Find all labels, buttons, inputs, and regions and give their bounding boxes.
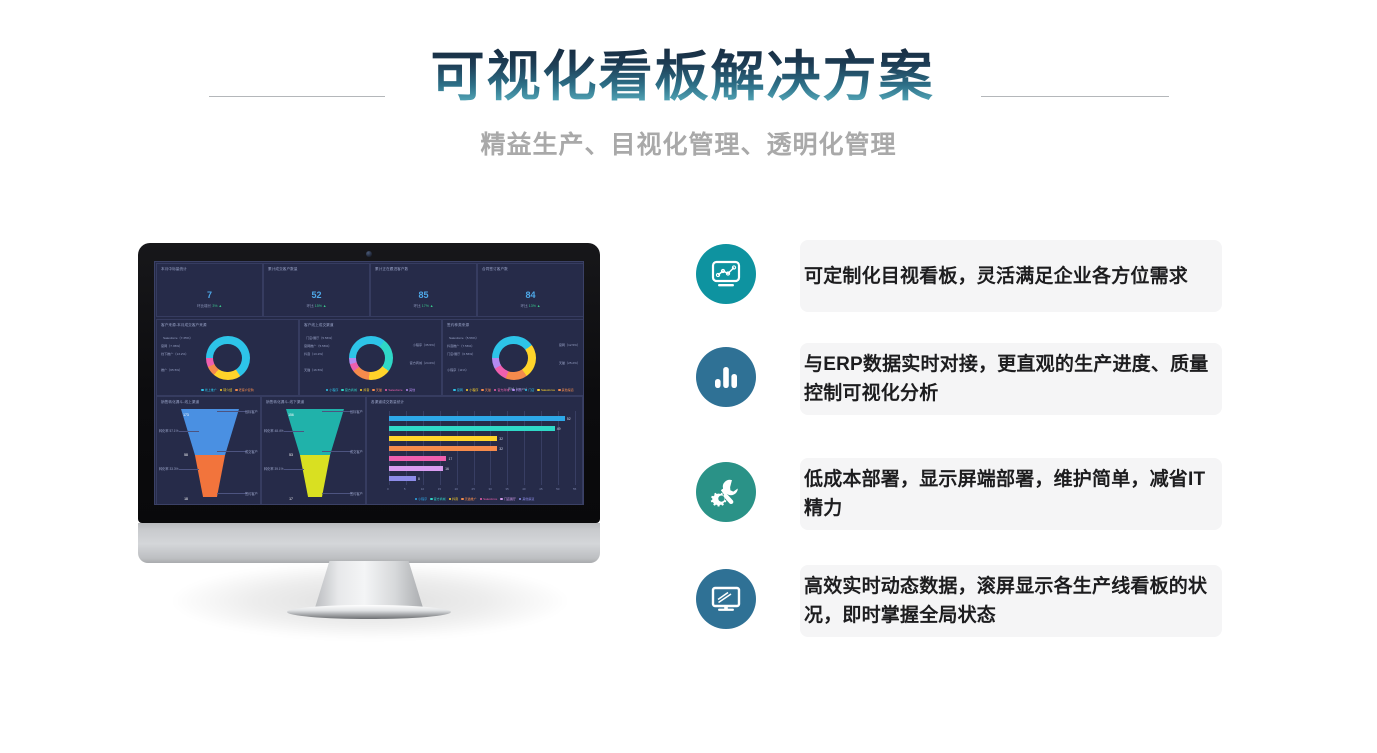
bar-chart-card[interactable]: 各渠道成交数量统计0510152025303540455055524932321… xyxy=(366,396,583,505)
kpi-card-3[interactable]: 累计正在跟进客户数85环比 17% ▲ xyxy=(370,263,477,317)
donut-title: 客户来源-本月成交客户来源 xyxy=(161,323,207,328)
page-title: 可视化看板解决方案 xyxy=(431,44,935,110)
donut-label: 抖音推广（7.56%） xyxy=(447,343,474,348)
legend-entry[interactable]: 其他 xyxy=(406,388,416,392)
legend-entry[interactable]: 小程序 xyxy=(326,388,339,392)
bar-gridline xyxy=(575,411,576,485)
bar-item xyxy=(389,456,446,461)
title-rule-right xyxy=(981,96,1169,97)
kpi-value: 7 xyxy=(157,290,262,300)
funnel-rate-label: 转化率 57.1% xyxy=(159,428,179,433)
bar-value-label: 32 xyxy=(499,437,503,441)
bar-axis-tick: 15 xyxy=(438,487,441,491)
funnel-rate-label: 转化率 39.1% xyxy=(264,466,284,471)
bar-axis-tick: 45 xyxy=(539,487,542,491)
kpi-subtext: 环比 13% ▲ xyxy=(478,304,583,309)
legend-entry[interactable]: 天猫 xyxy=(372,388,382,392)
donut-label: 官方商城（24.6%） xyxy=(410,360,437,365)
page-subtitle: 精益生产、目视化管理、透明化管理 xyxy=(0,128,1377,162)
donut-ring xyxy=(206,336,250,380)
kpi-value: 52 xyxy=(264,290,369,300)
legend-entry[interactable]: 门店展厅 xyxy=(500,497,516,501)
legend-entry[interactable]: 线上推广 xyxy=(201,388,217,392)
legend-entry[interactable]: 官方商城 xyxy=(341,388,357,392)
bar-axis-tick: 50 xyxy=(556,487,559,491)
feature-text: 与ERP数据实时对接，更直观的生产进度、质量控制可视化分析 xyxy=(800,348,1222,410)
funnel-connector xyxy=(322,451,352,452)
bar-axis-tick: 55 xyxy=(573,487,576,491)
funnel-rate-connector xyxy=(284,469,304,470)
donut-legend: 小程序官方商城抖音天猫Salesforce其他 xyxy=(300,388,441,392)
funnel-rate-label: 转化率 48.4% xyxy=(264,428,284,433)
kpi-card-4[interactable]: 合同签订客户数84环比 13% ▲ xyxy=(477,263,584,317)
kpi-subtext: 环比 15% ▲ xyxy=(264,304,369,309)
legend-entry[interactable]: 转介绍 xyxy=(220,388,233,392)
bar-item xyxy=(389,426,555,431)
kpi-card-1[interactable]: 本月中标量统计7环比增长 3% ▲ xyxy=(156,263,263,317)
donut-label: 推广（65.5%） xyxy=(161,367,182,372)
bar-axis-tick: 10 xyxy=(421,487,424,491)
funnel-connector xyxy=(322,411,352,412)
donut-label: 线下推广（13.2%） xyxy=(161,351,188,356)
page-header: 可视化看板解决方案 精益生产、目视化管理、透明化管理 xyxy=(0,0,1377,190)
bar-value-label: 52 xyxy=(567,417,571,421)
monitor-bezel: 本月中标量统计7环比增长 3% ▲累计成交客户数量52环比 15% ▲累计正在跟… xyxy=(138,243,600,523)
funnel-value: 58 xyxy=(157,453,263,457)
funnel-segment-bottom xyxy=(181,455,239,497)
feature-item-4[interactable]: 高效实时动态数据，滚屏显示各生产线看板的状况，即时掌握全局状态 xyxy=(694,565,1234,641)
monitor-line-chart-icon xyxy=(696,244,756,304)
bar-item xyxy=(389,416,565,421)
bar-axis-tick: 20 xyxy=(455,487,458,491)
funnel-stage-label: 签约客户 xyxy=(245,491,258,496)
bar-chart-legend: 小程序官方商城抖音天猫推广Salesforce门店展厅其他渠道 xyxy=(367,497,582,501)
bar-axis-tick: 30 xyxy=(488,487,491,491)
kpi-title: 累计成交客户数量 xyxy=(268,267,298,272)
funnel-connector xyxy=(217,451,247,452)
funnel-rate-connector xyxy=(284,431,304,432)
feature-item-3[interactable]: 低成本部署，显示屏端部署，维护简单，减省IT精力 xyxy=(694,458,1234,534)
wrench-gear-icon xyxy=(696,462,756,522)
bar-axis-tick: 35 xyxy=(505,487,508,491)
bar-value-label: 16 xyxy=(445,467,449,471)
donut-label: 门店/展厅（6.56%） xyxy=(447,351,475,356)
donut-label: 小程序（35.5%） xyxy=(413,342,437,347)
bar-chart-icon xyxy=(696,347,756,407)
legend-entry[interactable]: 抖音 xyxy=(449,497,459,501)
bar-item xyxy=(389,466,443,471)
donut-label: 小程序（11%） xyxy=(447,367,468,372)
feature-item-2[interactable]: 与ERP数据实时对接，更直观的生产进度、质量控制可视化分析 xyxy=(694,343,1234,419)
bar-axis-tick: 40 xyxy=(522,487,525,491)
kpi-card-2[interactable]: 累计成交客户数量52环比 15% ▲ xyxy=(263,263,370,317)
bar-gridline xyxy=(507,411,508,485)
webcam-icon xyxy=(366,251,372,257)
donut-card-1[interactable]: 客户来源-本月成交客户来源Salesforce（7.35%）官网（7.35%）线… xyxy=(156,319,299,396)
funnel-value: 17 xyxy=(262,497,368,501)
donut-label: 门店/展厅（5.56%） xyxy=(306,335,334,340)
legend-entry[interactable]: 老客户复购 xyxy=(235,388,254,392)
bar-chart-title: 各渠道成交数量统计 xyxy=(371,400,404,405)
donut-label: 天猫（25.2%） xyxy=(559,360,580,365)
legend-entry[interactable]: 天猫 xyxy=(481,388,491,392)
kpi-subtext: 环比 17% ▲ xyxy=(371,304,476,309)
funnel-value: 173 xyxy=(157,413,263,417)
funnel-connector xyxy=(322,493,352,494)
legend-entry[interactable]: 小程序 xyxy=(415,497,428,501)
title-row: 可视化看板解决方案 xyxy=(0,44,1377,110)
kpi-title: 合同签订客户数 xyxy=(482,267,508,272)
donut-legend: 官网小程序天猫官方商城抖音门店Salesforce其他渠道 xyxy=(443,388,584,392)
funnel-segment-bottom xyxy=(286,455,344,497)
kpi-title: 本月中标量统计 xyxy=(161,267,187,272)
funnel-rate-connector xyxy=(179,431,199,432)
legend-entry[interactable]: 抖音 xyxy=(512,388,522,392)
bar-gridline xyxy=(558,411,559,485)
bar-value-label: 8 xyxy=(418,477,420,481)
legend-entry[interactable]: 其他渠道 xyxy=(558,388,574,392)
legend-entry[interactable]: 天猫推广 xyxy=(461,497,477,501)
legend-entry[interactable]: 门店 xyxy=(525,388,535,392)
funnel-rate-label: 转化率 33.3% xyxy=(159,466,179,471)
bar-value-label: 17 xyxy=(448,457,452,461)
dashboard-screen: 本月中标量统计7环比增长 3% ▲累计成交客户数量52环比 15% ▲累计正在跟… xyxy=(154,261,584,505)
legend-entry[interactable]: Salesforce xyxy=(480,497,498,501)
funnel-value: 156 xyxy=(262,413,368,417)
legend-entry[interactable]: Salesforce xyxy=(537,388,555,392)
funnel-card-1[interactable]: 销售转化漏斗-线上渠道目标客户成交客户签约客户转化率 57.1%转化率 33.3… xyxy=(156,396,261,505)
bar-axis-tick: 25 xyxy=(472,487,475,491)
bar-gridline xyxy=(524,411,525,485)
donut-label: 天猫（16.5%） xyxy=(304,367,325,372)
funnel-connector xyxy=(217,411,247,412)
donut-ring xyxy=(349,336,393,380)
kpi-subtext: 环比增长 3% ▲ xyxy=(157,304,262,309)
feature-text-panel: 可定制化目视看板，灵活满足企业各方位需求 xyxy=(800,240,1222,312)
feature-text: 高效实时动态数据，滚屏显示各生产线看板的状况，即时掌握全局状态 xyxy=(800,570,1222,632)
feature-text: 低成本部署，显示屏端部署，维护简单，减省IT精力 xyxy=(800,463,1222,525)
feature-text-panel: 高效实时动态数据，滚屏显示各生产线看板的状况，即时掌握全局状态 xyxy=(800,565,1222,637)
kpi-value: 85 xyxy=(371,290,476,300)
funnel-value: 18 xyxy=(157,497,263,501)
legend-entry[interactable]: 官网 xyxy=(453,388,463,392)
monitor-chin xyxy=(138,523,600,563)
funnel-card-2[interactable]: 销售转化漏斗-线下渠道目标客户成交客户签约客户转化率 48.4%转化率 39.1… xyxy=(261,396,366,505)
monitor-base xyxy=(287,605,451,619)
donut-title: 客户线上成交渠道 xyxy=(304,323,334,328)
monitor-display-icon xyxy=(696,569,756,629)
title-rule-left xyxy=(209,96,385,97)
bar-item xyxy=(389,476,416,481)
donut-label: 官网（12.5%） xyxy=(559,342,580,347)
legend-entry[interactable]: 抖音 xyxy=(360,388,370,392)
donut-card-3[interactable]: 签约种类来源Salesforce（5.56%）抖音推广（7.56%）门店/展厅（… xyxy=(442,319,584,396)
kpi-value: 84 xyxy=(478,290,583,300)
feature-text: 可定制化目视看板，灵活满足企业各方位需求 xyxy=(800,260,1196,293)
donut-card-2[interactable]: 客户线上成交渠道门店/展厅（5.56%）官网推广（5.56%）抖音（13.2%）… xyxy=(299,319,442,396)
donut-ring xyxy=(492,336,536,380)
bar-value-label: 32 xyxy=(499,447,503,451)
donut-label: 抖音（13.2%） xyxy=(304,351,325,356)
donut-title: 签约种类来源 xyxy=(447,323,469,328)
legend-entry[interactable]: 其他渠道 xyxy=(519,497,535,501)
feature-text-panel: 与ERP数据实时对接，更直观的生产进度、质量控制可视化分析 xyxy=(800,343,1222,415)
donut-label: 官网推广（5.56%） xyxy=(304,343,331,348)
kpi-title: 累计正在跟进客户数 xyxy=(375,267,408,272)
feature-item-1[interactable]: 可定制化目视看板，灵活满足企业各方位需求 xyxy=(694,240,1234,316)
feature-list: 可定制化目视看板，灵活满足企业各方位需求 与ERP数据实时对接，更直观的生产进度… xyxy=(694,240,1234,660)
funnel-connector xyxy=(217,493,247,494)
legend-entry[interactable]: 官方商城 xyxy=(494,388,510,392)
funnel-value: 53 xyxy=(262,453,368,457)
donut-label: 官网（7.35%） xyxy=(161,343,182,348)
monitor-neck xyxy=(314,561,424,611)
funnel-stage-label: 签约客户 xyxy=(350,491,363,496)
donut-legend: 线上推广转介绍老客户复购 xyxy=(157,388,298,392)
legend-entry[interactable]: 官方商城 xyxy=(430,497,446,501)
feature-text-panel: 低成本部署，显示屏端部署，维护简单，减省IT精力 xyxy=(800,458,1222,530)
funnel-rate-connector xyxy=(179,469,199,470)
bar-item xyxy=(389,446,497,451)
bar-axis-tick: 5 xyxy=(404,487,406,491)
donut-label: Salesforce（5.56%） xyxy=(449,335,479,340)
bar-value-label: 49 xyxy=(557,427,561,431)
bar-gridline xyxy=(541,411,542,485)
funnel-title: 销售转化漏斗-线上渠道 xyxy=(161,400,199,405)
bar-item xyxy=(389,436,497,441)
funnel-title: 销售转化漏斗-线下渠道 xyxy=(266,400,304,405)
donut-label: Salesforce（7.35%） xyxy=(163,335,193,340)
legend-entry[interactable]: 小程序 xyxy=(466,388,479,392)
monitor-mockup: 本月中标量统计7环比增长 3% ▲累计成交客户数量52环比 15% ▲累计正在跟… xyxy=(138,243,600,673)
bar-axis-tick: 0 xyxy=(387,487,389,491)
legend-entry[interactable]: Salesforce xyxy=(385,388,403,392)
